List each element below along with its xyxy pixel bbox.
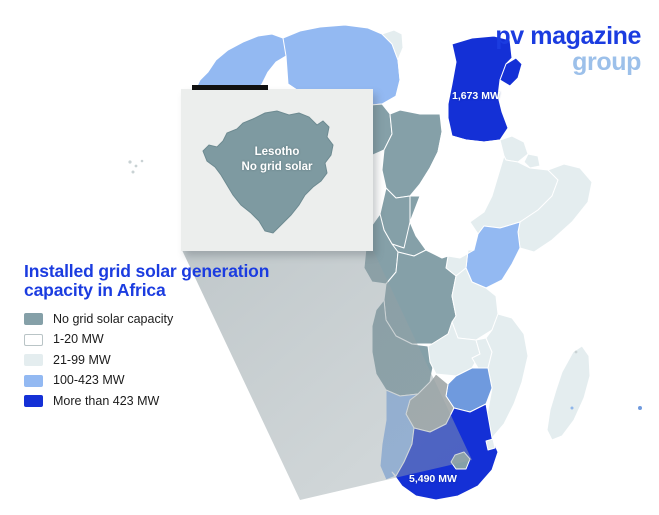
legend-swatch-100-423 (24, 375, 43, 387)
island-mauritius (638, 406, 642, 410)
legend-swatch-no-capacity (24, 313, 43, 325)
island-capeverde (141, 160, 144, 163)
legend-title: Installed grid solar generation capacity… (24, 262, 324, 300)
legend-item-100-423: 100-423 MW (24, 372, 324, 390)
legend-swatch-1-20 (24, 334, 43, 346)
island-capeverde (132, 171, 135, 174)
value-label-south-africa: 5,490 MW (409, 473, 457, 485)
legend-item-21-99: 21-99 MW (24, 351, 324, 369)
legend-label-no-capacity: No grid solar capacity (53, 313, 173, 326)
legend-item-no-capacity: No grid solar capacity (24, 310, 324, 328)
island-capeverde (135, 165, 138, 168)
legend-label-100-423: 100-423 MW (53, 374, 125, 387)
africa-choropleth-map (0, 0, 659, 515)
legend: Installed grid solar generation capacity… (24, 262, 324, 413)
logo-primary-text: pv magazine (495, 24, 641, 49)
inset-label: Lesotho No grid solar (242, 145, 313, 174)
legend-swatch-21-99 (24, 354, 43, 366)
island-capeverde (128, 160, 131, 163)
legend-item-1-20: 1-20 MW (24, 331, 324, 349)
pv-magazine-logo: pv magazine group (495, 24, 641, 75)
legend-item-more-than-423: More than 423 MW (24, 392, 324, 410)
lesotho-inset-panel: Lesotho No grid solar (181, 89, 373, 251)
region-madagascar (547, 346, 590, 440)
logo-secondary-text: group (495, 50, 641, 75)
region-eswatini (486, 439, 495, 450)
legend-swatch-more-than-423 (24, 395, 43, 407)
region-morocco (196, 34, 290, 92)
island-seychelles (575, 351, 578, 354)
legend-label-1-20: 1-20 MW (53, 333, 104, 346)
region-libya (396, 38, 456, 114)
value-label-egypt: 1,673 MW (452, 90, 500, 102)
legend-label-more-than-423: More than 423 MW (53, 395, 159, 408)
island-comoros (571, 407, 574, 410)
legend-label-21-99: 21-99 MW (53, 354, 111, 367)
map-infographic: Lesotho No grid solar 1,673 MW 5,490 MW … (0, 0, 659, 515)
